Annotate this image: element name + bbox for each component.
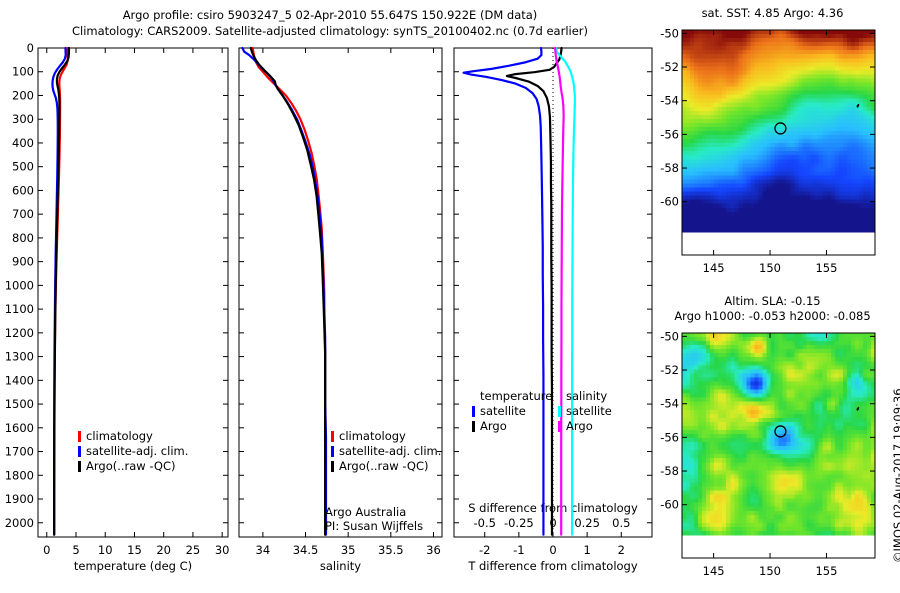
map-cell xyxy=(750,381,755,386)
map-cell xyxy=(718,212,723,217)
map-cell xyxy=(746,386,751,391)
map-cell xyxy=(847,66,852,71)
map-cell xyxy=(706,482,711,487)
map-cell xyxy=(758,353,763,358)
map-cell xyxy=(811,224,816,229)
map-cell xyxy=(742,361,747,366)
map-cell xyxy=(682,499,687,504)
map-cell xyxy=(831,474,836,479)
map-cell xyxy=(819,38,824,43)
map-cell xyxy=(799,482,804,487)
map-cell xyxy=(835,46,840,51)
map-cell xyxy=(754,83,759,88)
map-cell xyxy=(803,139,808,144)
map-cell xyxy=(855,418,860,423)
map-cell xyxy=(706,515,711,520)
map-cell xyxy=(718,390,723,395)
map-cell xyxy=(791,151,796,156)
map-cell xyxy=(779,171,784,176)
map-cell xyxy=(730,495,735,500)
map-cell xyxy=(694,131,699,136)
map-cell xyxy=(762,519,767,524)
map-cell xyxy=(722,495,727,500)
map-cell xyxy=(823,345,828,350)
map-cell xyxy=(738,430,743,435)
map-cell xyxy=(839,478,844,483)
map-cell xyxy=(843,462,848,467)
map-cell xyxy=(698,54,703,59)
map-cell xyxy=(746,167,751,172)
map-cell xyxy=(831,398,836,403)
map-cell xyxy=(811,143,816,148)
map-cell xyxy=(839,377,844,382)
map-cell xyxy=(795,135,800,140)
map-cell xyxy=(827,196,832,201)
map-cell xyxy=(835,466,840,471)
map-cell xyxy=(762,386,767,391)
map-cell xyxy=(783,167,788,172)
map-cell xyxy=(799,46,804,51)
map-cell xyxy=(682,155,687,160)
map-cell xyxy=(710,54,715,59)
map-cell xyxy=(710,50,715,55)
map-cell xyxy=(738,353,743,358)
map-cell xyxy=(831,357,836,362)
map-cell xyxy=(831,107,836,112)
map-cell xyxy=(722,365,727,370)
map-cell xyxy=(750,418,755,423)
map-cell xyxy=(795,74,800,79)
map-cell xyxy=(831,66,836,71)
map-cell xyxy=(855,442,860,447)
map-cell xyxy=(714,107,719,112)
figure-title-line2: Climatology: CARS2009. Satellite-adjuste… xyxy=(0,24,660,38)
map-cell xyxy=(811,184,816,189)
map-cell xyxy=(847,345,852,350)
map-cell xyxy=(791,139,796,144)
map-cell xyxy=(770,224,775,229)
map-cell xyxy=(863,155,868,160)
map-cell xyxy=(843,179,848,184)
map-y-tick-label: -54 xyxy=(660,94,679,108)
map-cell xyxy=(750,34,755,39)
map-cell xyxy=(750,369,755,374)
map-cell xyxy=(839,163,844,168)
map-cell xyxy=(682,58,687,63)
map-cell xyxy=(799,333,804,338)
map-cell xyxy=(867,163,872,168)
map-cell xyxy=(766,95,771,100)
map-cell xyxy=(863,495,868,500)
map-cell xyxy=(746,143,751,148)
map-cell xyxy=(847,462,852,467)
map-cell xyxy=(803,127,808,132)
map-cell xyxy=(851,192,856,197)
map-cell xyxy=(863,386,868,391)
map-cell xyxy=(710,228,715,233)
map-cell xyxy=(706,46,711,51)
map-cell xyxy=(758,70,763,75)
map-cell xyxy=(787,42,792,47)
map-cell xyxy=(835,491,840,496)
map-cell xyxy=(698,188,703,193)
map-cell xyxy=(710,402,715,407)
x-tick-label: -1 xyxy=(513,543,524,557)
map-cell xyxy=(807,390,812,395)
map-cell xyxy=(855,99,860,104)
map-cell xyxy=(835,119,840,124)
map-cell xyxy=(779,83,784,88)
map-cell xyxy=(694,91,699,96)
map-cell xyxy=(783,478,788,483)
map-cell xyxy=(843,70,848,75)
map-cell xyxy=(770,167,775,172)
map-cell xyxy=(855,353,860,358)
map-cell xyxy=(766,345,771,350)
map-cell xyxy=(783,422,788,427)
map-cell xyxy=(698,470,703,475)
map-cell xyxy=(714,394,719,399)
map-cell xyxy=(774,353,779,358)
map-cell xyxy=(855,70,860,75)
map-cell xyxy=(754,422,759,427)
map-cell xyxy=(867,523,872,528)
map-cell xyxy=(682,74,687,79)
map-cell xyxy=(847,470,852,475)
map-cell xyxy=(726,151,731,156)
map-cell xyxy=(750,402,755,407)
map-cell xyxy=(730,406,735,411)
x-tick-label: 20 xyxy=(156,543,171,557)
map-cell xyxy=(754,224,759,229)
map-cell xyxy=(859,333,864,338)
map-cell xyxy=(807,135,812,140)
map-cell xyxy=(815,175,820,180)
map-cell xyxy=(855,478,860,483)
map-cell xyxy=(742,188,747,193)
map-cell xyxy=(694,450,699,455)
map-cell xyxy=(855,34,860,39)
map-cell xyxy=(742,163,747,168)
map-cell xyxy=(694,511,699,516)
map-cell xyxy=(867,123,872,128)
map-cell xyxy=(783,103,788,108)
map-cell xyxy=(722,220,727,225)
map-cell xyxy=(859,349,864,354)
map-cell xyxy=(787,87,792,92)
map-cell xyxy=(803,353,808,358)
map-cell xyxy=(702,111,707,116)
map-cell xyxy=(795,377,800,382)
map-cell xyxy=(839,62,844,67)
map-cell xyxy=(746,70,751,75)
map-cell xyxy=(686,179,691,184)
map-cell xyxy=(730,184,735,189)
map-cell xyxy=(726,353,731,358)
map-cell xyxy=(839,179,844,184)
map-cell xyxy=(754,426,759,431)
map-cell xyxy=(690,377,695,382)
map-cell xyxy=(819,58,824,63)
map-cell xyxy=(742,369,747,374)
map-cell xyxy=(843,414,848,419)
map-cell xyxy=(686,224,691,229)
map-cell xyxy=(839,212,844,217)
map-cell xyxy=(694,398,699,403)
map-cell xyxy=(770,34,775,39)
map-cell xyxy=(750,167,755,172)
map-cell xyxy=(706,30,711,35)
map-cell xyxy=(827,224,832,229)
map-cell xyxy=(787,474,792,479)
map-cell xyxy=(690,147,695,152)
map-cell xyxy=(815,42,820,47)
map-cell xyxy=(863,390,868,395)
sla-map-plot: -50-52-54-56-58-60145150155 xyxy=(660,325,900,593)
map-cell xyxy=(722,66,727,71)
map-cell xyxy=(779,216,784,221)
map-cell xyxy=(803,184,808,189)
map-cell xyxy=(851,523,856,528)
map-cell xyxy=(718,34,723,39)
map-cell xyxy=(722,434,727,439)
map-cell xyxy=(847,46,852,51)
map-cell xyxy=(831,111,836,116)
map-cell xyxy=(730,434,735,439)
sst-map-title: sat. SST: 4.85 Argo: 4.36 xyxy=(660,6,885,20)
map-cell xyxy=(758,188,763,193)
map-cell xyxy=(783,503,788,508)
map-cell xyxy=(742,127,747,132)
map-cell xyxy=(795,341,800,346)
map-cell xyxy=(799,204,804,209)
map-cell xyxy=(827,394,832,399)
map-cell xyxy=(714,66,719,71)
map-cell xyxy=(770,123,775,128)
map-cell xyxy=(718,135,723,140)
map-cell xyxy=(706,511,711,516)
map-cell xyxy=(718,50,723,55)
map-cell xyxy=(791,216,796,221)
map-cell xyxy=(754,175,759,180)
map-cell xyxy=(811,50,816,55)
map-cell xyxy=(702,143,707,148)
map-cell xyxy=(779,406,784,411)
map-cell xyxy=(839,349,844,354)
map-cell xyxy=(738,386,743,391)
map-cell xyxy=(791,402,796,407)
map-cell xyxy=(859,228,864,233)
map-cell xyxy=(706,373,711,378)
map-cell xyxy=(710,365,715,370)
map-cell xyxy=(686,495,691,500)
map-cell xyxy=(762,337,767,342)
map-cell xyxy=(722,167,727,172)
map-cell xyxy=(827,135,832,140)
map-cell xyxy=(799,179,804,184)
map-cell xyxy=(859,466,864,471)
map-cell xyxy=(843,46,848,51)
map-cell xyxy=(795,470,800,475)
map-cell xyxy=(698,527,703,532)
map-cell xyxy=(811,495,816,500)
map-cell xyxy=(791,406,796,411)
map-cell xyxy=(766,414,771,419)
map-cell xyxy=(690,179,695,184)
map-cell xyxy=(758,151,763,156)
map-cell xyxy=(867,434,872,439)
map-cell xyxy=(859,422,864,427)
map-cell xyxy=(726,482,731,487)
legend-label: satellite xyxy=(566,404,612,418)
map-cell xyxy=(762,487,767,492)
map-cell xyxy=(827,107,832,112)
map-cell xyxy=(847,442,852,447)
map-cell xyxy=(783,482,788,487)
map-cell xyxy=(690,111,695,116)
map-cell xyxy=(815,365,820,370)
map-cell xyxy=(807,410,812,415)
map-cell xyxy=(855,42,860,47)
map-cell xyxy=(787,466,792,471)
map-cell xyxy=(819,107,824,112)
map-cell xyxy=(714,410,719,415)
map-cell xyxy=(706,478,711,483)
map-cell xyxy=(694,38,699,43)
map-cell xyxy=(807,474,812,479)
map-cell xyxy=(859,103,864,108)
map-cell xyxy=(750,74,755,79)
map-cell xyxy=(694,139,699,144)
map-cell xyxy=(859,159,864,164)
map-cell xyxy=(815,482,820,487)
map-cell xyxy=(774,398,779,403)
map-cell xyxy=(706,167,711,172)
map-cell xyxy=(791,446,796,451)
map-cell xyxy=(799,410,804,415)
map-cell xyxy=(702,426,707,431)
map-cell xyxy=(726,171,731,176)
map-cell xyxy=(779,66,784,71)
map-cell xyxy=(799,357,804,362)
map-cell xyxy=(730,103,735,108)
map-cell xyxy=(791,46,796,51)
map-cell xyxy=(791,410,796,415)
map-cell xyxy=(795,390,800,395)
map-cell xyxy=(750,357,755,362)
map-cell xyxy=(859,377,864,382)
map-cell xyxy=(843,511,848,516)
map-cell xyxy=(750,163,755,168)
map-cell xyxy=(734,163,739,168)
map-cell xyxy=(686,171,691,176)
x-tick-label: 30 xyxy=(215,543,230,557)
map-cell xyxy=(742,381,747,386)
map-cell xyxy=(799,507,804,512)
map-cell xyxy=(682,34,687,39)
map-cell xyxy=(811,337,816,342)
map-cell xyxy=(863,398,868,403)
map-cell xyxy=(839,95,844,100)
map-cell xyxy=(758,95,763,100)
map-cell xyxy=(710,184,715,189)
map-cell xyxy=(766,200,771,205)
map-cell xyxy=(799,345,804,350)
map-cell xyxy=(726,135,731,140)
map-cell xyxy=(734,365,739,370)
map-cell xyxy=(855,345,860,350)
map-cell xyxy=(694,163,699,168)
map-cell xyxy=(783,115,788,120)
map-cell xyxy=(766,91,771,96)
map-cell xyxy=(859,99,864,104)
map-cell xyxy=(787,135,792,140)
map-cell xyxy=(823,103,828,108)
map-cell xyxy=(770,87,775,92)
map-cell xyxy=(859,111,864,116)
map-cell xyxy=(791,377,796,382)
map-cell xyxy=(831,499,836,504)
map-cell xyxy=(690,50,695,55)
map-cell xyxy=(742,111,747,116)
map-cell xyxy=(690,454,695,459)
map-cell xyxy=(847,381,852,386)
map-cell xyxy=(839,171,844,176)
map-cell xyxy=(819,495,824,500)
map-cell xyxy=(791,398,796,403)
map-cell xyxy=(710,523,715,528)
map-cell xyxy=(863,422,868,427)
map-cell xyxy=(742,357,747,362)
map-cell xyxy=(787,446,792,451)
map-cell xyxy=(722,386,727,391)
map-cell xyxy=(686,511,691,516)
legend-swatch xyxy=(472,421,475,432)
map-cell xyxy=(839,42,844,47)
map-cell xyxy=(839,361,844,366)
map-cell xyxy=(827,192,832,197)
map-cell xyxy=(770,337,775,342)
map-cell xyxy=(791,482,796,487)
map-cell xyxy=(799,95,804,100)
map-cell xyxy=(787,159,792,164)
map-cell xyxy=(867,466,872,471)
map-cell xyxy=(795,87,800,92)
map-cell xyxy=(726,58,731,63)
map-cell xyxy=(730,188,735,193)
map-cell xyxy=(770,111,775,116)
map-cell xyxy=(851,426,856,431)
map-cell xyxy=(738,50,743,55)
map-cell xyxy=(815,402,820,407)
map-cell xyxy=(851,87,856,92)
map-cell xyxy=(811,38,816,43)
map-cell xyxy=(774,454,779,459)
map-cell xyxy=(795,430,800,435)
map-cell xyxy=(787,151,792,156)
map-cell xyxy=(718,91,723,96)
map-cell xyxy=(823,123,828,128)
map-cell xyxy=(770,426,775,431)
map-cell xyxy=(718,462,723,467)
map-cell xyxy=(770,95,775,100)
map-cell xyxy=(839,357,844,362)
map-cell xyxy=(758,216,763,221)
map-cell xyxy=(742,523,747,528)
map-cell xyxy=(702,446,707,451)
map-cell xyxy=(787,491,792,496)
map-cell xyxy=(762,135,767,140)
